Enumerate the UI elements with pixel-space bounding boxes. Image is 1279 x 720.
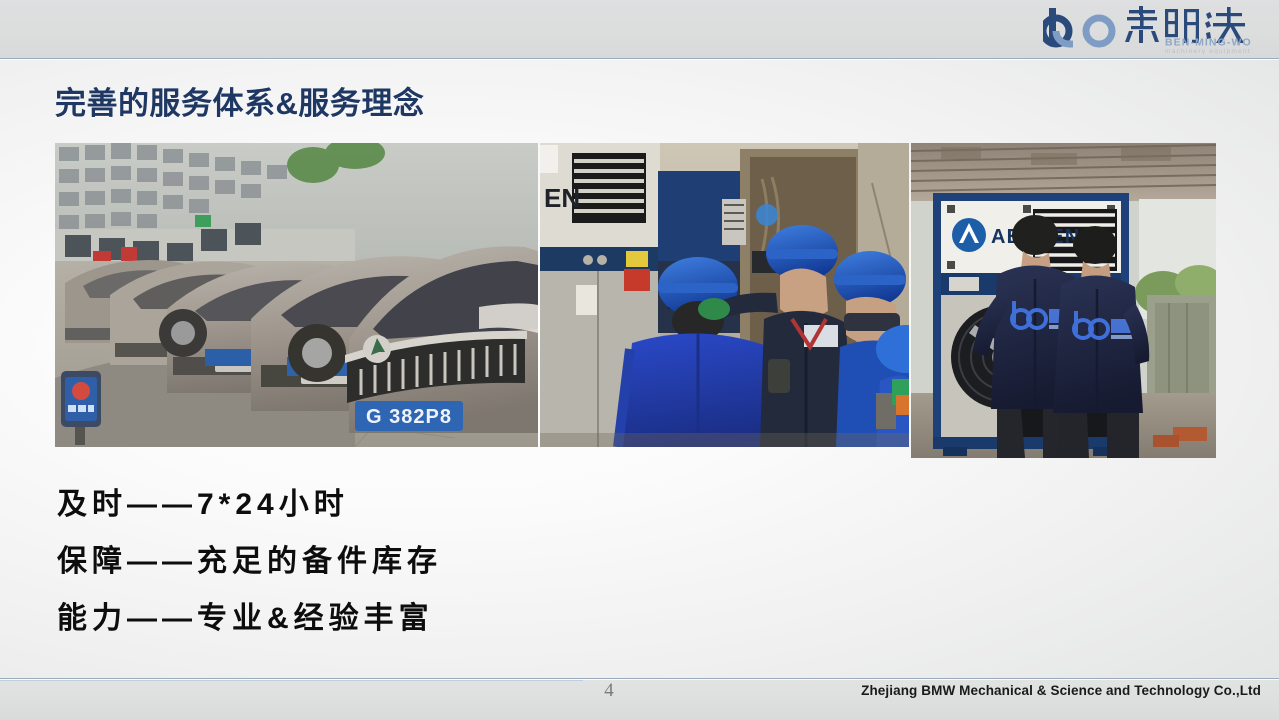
footer-divider-rule-secondary	[0, 680, 583, 681]
presentation-slide: BEN-MING-WO machinery equipment 完善的服务体系&…	[0, 0, 1279, 720]
service-principles-list: 及时——7*24小时 保障——充足的备件库存 能力——专业&经验丰富	[57, 476, 757, 647]
company-logo: BEN-MING-WO machinery equipment	[1043, 4, 1271, 54]
header-divider-rule	[0, 58, 1279, 59]
service-principle-line: 保障——充足的备件库存	[57, 533, 757, 590]
svg-text:G 382P8: G 382P8	[366, 406, 452, 428]
svg-text:EN: EN	[544, 183, 580, 213]
footer-company-name: Zhejiang BMW Mechanical & Science and Te…	[861, 683, 1261, 698]
footer-divider-rule	[0, 678, 1279, 679]
svg-text:BEN-MING-WO: BEN-MING-WO	[1165, 37, 1252, 49]
photo-onsite-technicians: EN	[540, 143, 909, 447]
slide-title: 完善的服务体系&服务理念	[55, 78, 424, 123]
photo-service-fleet-cars: G 382P8	[55, 143, 538, 447]
page-number: 4	[596, 680, 622, 702]
service-principle-line: 及时——7*24小时	[57, 476, 757, 533]
svg-text:machinery equipment: machinery equipment	[1165, 48, 1251, 54]
photo-aerzen-blower-service: AERZEN	[911, 143, 1216, 458]
service-principle-line: 能力——专业&经验丰富	[57, 590, 757, 647]
